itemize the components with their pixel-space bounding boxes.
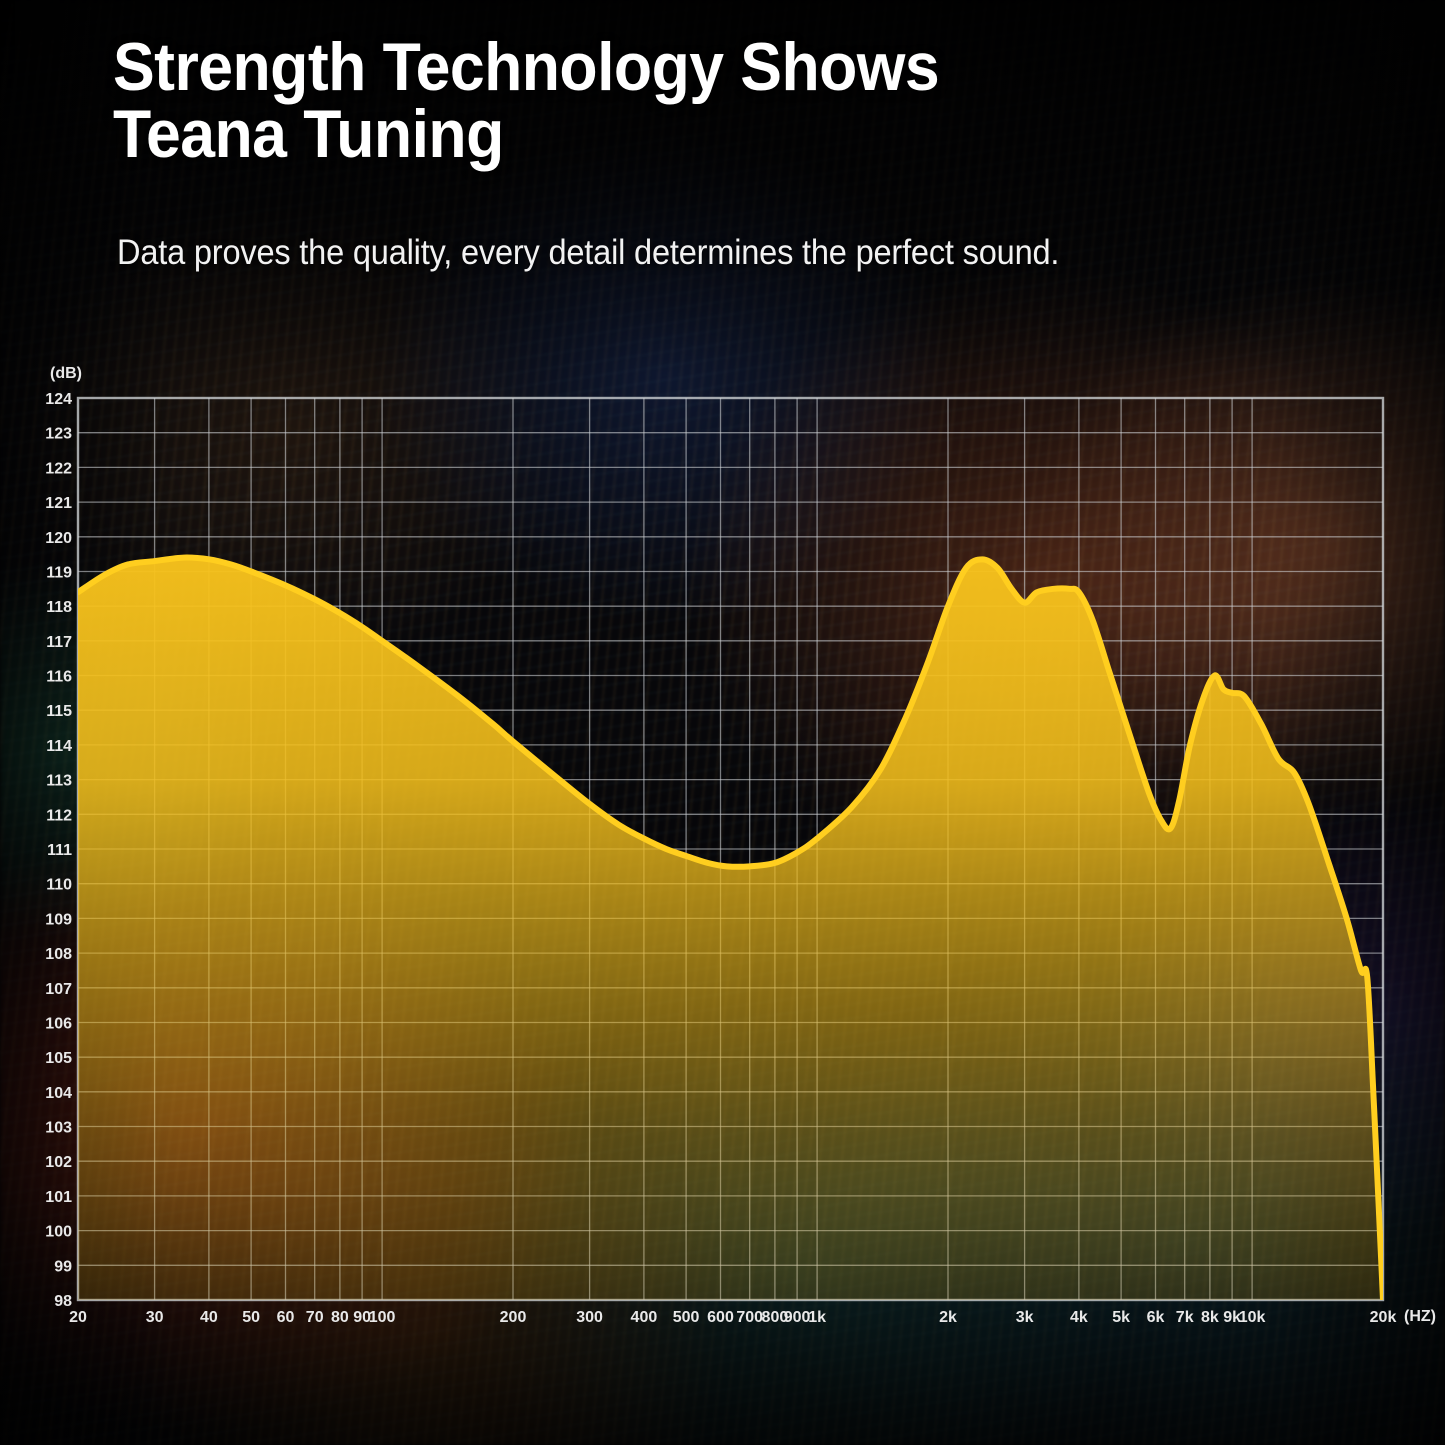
frequency-response-chart: 1241231221211201191181171161151141131121… — [0, 0, 1445, 1445]
x-axis-tick-label: 300 — [576, 1309, 603, 1326]
frequency-response-infographic: Strength Technology Shows Teana Tuning D… — [0, 0, 1445, 1445]
x-axis-tick-label: 40 — [200, 1309, 218, 1326]
x-axis-tick-label: 6k — [1147, 1309, 1165, 1326]
y-axis-tick-label: 122 — [45, 460, 72, 477]
y-axis-tick-label: 116 — [46, 669, 72, 686]
y-axis-tick-label: 113 — [46, 773, 72, 790]
x-axis-tick-label: 70 — [306, 1309, 324, 1326]
x-axis-tick-label: 20k — [1370, 1309, 1397, 1326]
x-axis-tick-label: 2k — [939, 1309, 957, 1326]
y-axis-tick-label: 104 — [45, 1085, 72, 1102]
x-axis-tick-label: 600 — [707, 1309, 734, 1326]
y-axis-tick-label: 112 — [46, 807, 72, 824]
y-axis-tick-label: 117 — [46, 634, 72, 651]
y-axis-tick-label: 106 — [45, 1016, 72, 1033]
x-axis-unit-label: (HZ) — [1404, 1308, 1436, 1325]
y-axis-tick-label: 107 — [45, 981, 72, 998]
y-axis-unit-label: (dB) — [50, 365, 82, 382]
y-axis-tick-label: 109 — [45, 911, 72, 928]
x-axis-tick-label: 1k — [808, 1309, 826, 1326]
y-axis-tick-label: 115 — [46, 703, 72, 720]
x-axis-tick-label: 500 — [673, 1309, 700, 1326]
y-axis-tick-label: 111 — [47, 842, 72, 859]
x-axis-tick-label: 4k — [1070, 1309, 1088, 1326]
x-axis-tick-label: 20 — [69, 1309, 87, 1326]
y-axis-tick-label: 123 — [45, 426, 72, 443]
y-axis-tick-label: 119 — [46, 565, 72, 582]
x-axis-ticks: 2030405060708090100200300400500600700800… — [69, 1309, 1396, 1326]
y-axis-tick-label: 118 — [46, 599, 72, 616]
y-axis-ticks: 1241231221211201191181171161151141131121… — [45, 391, 72, 1310]
x-axis-tick-label: 3k — [1016, 1309, 1034, 1326]
y-axis-tick-label: 121 — [45, 495, 72, 512]
y-axis-tick-label: 124 — [45, 391, 72, 408]
page-subtitle: Data proves the quality, every detail de… — [117, 233, 1059, 273]
y-axis-tick-label: 102 — [45, 1154, 72, 1171]
y-axis-tick-label: 120 — [45, 530, 72, 547]
x-axis-tick-label: 900 — [784, 1309, 811, 1326]
page-title: Strength Technology Shows Teana Tuning — [113, 34, 939, 169]
x-axis-tick-label: 400 — [631, 1309, 658, 1326]
x-axis-tick-label: 5k — [1112, 1309, 1130, 1326]
x-axis-tick-label: 60 — [277, 1309, 295, 1326]
x-axis-tick-label: 100 — [369, 1309, 396, 1326]
x-axis-tick-label: 10k — [1239, 1309, 1266, 1326]
y-axis-tick-label: 105 — [45, 1050, 72, 1067]
x-axis-tick-label: 30 — [146, 1309, 164, 1326]
x-axis-tick-label: 7k — [1176, 1309, 1194, 1326]
x-axis-tick-label: 50 — [242, 1309, 260, 1326]
y-axis-tick-label: 114 — [46, 738, 72, 755]
x-axis-tick-label: 80 — [331, 1309, 349, 1326]
x-axis-tick-label: 200 — [500, 1309, 527, 1326]
y-axis-tick-label: 99 — [54, 1258, 72, 1275]
response-curve-area — [78, 558, 1383, 1300]
y-axis-tick-label: 98 — [54, 1293, 72, 1310]
y-axis-tick-label: 100 — [45, 1224, 72, 1241]
x-axis-tick-label: 8k — [1201, 1309, 1219, 1326]
y-axis-tick-label: 108 — [45, 946, 72, 963]
x-axis-tick-label: 700 — [736, 1309, 763, 1326]
y-axis-tick-label: 101 — [45, 1189, 72, 1206]
y-axis-tick-label: 103 — [45, 1120, 72, 1137]
y-axis-tick-label: 110 — [46, 877, 72, 894]
